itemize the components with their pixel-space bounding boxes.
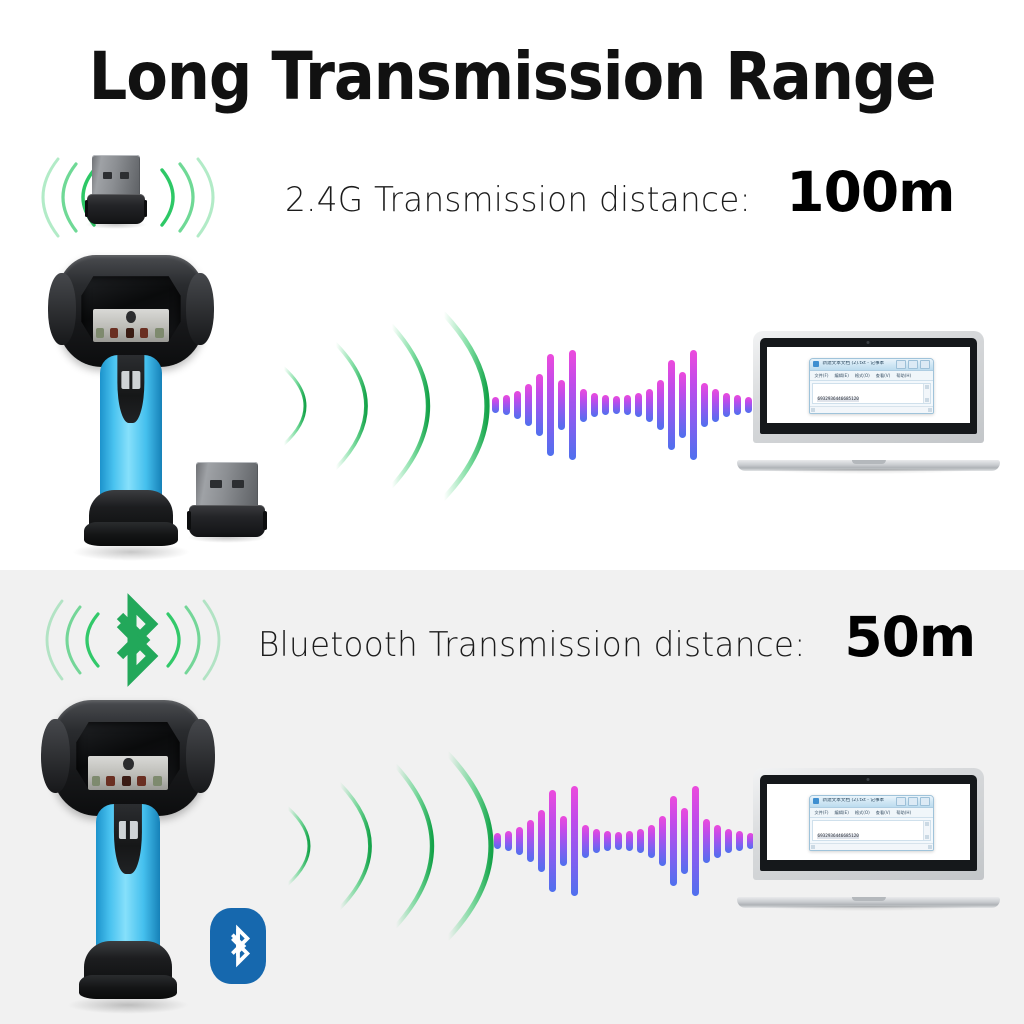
waveform-bar bbox=[525, 384, 532, 426]
scanner-handle bbox=[96, 804, 160, 958]
waveform-bar bbox=[714, 825, 721, 858]
menu-item-format[interactable]: 格式(O) bbox=[855, 371, 870, 380]
scanner-led bbox=[126, 328, 134, 338]
scroll-right-icon[interactable] bbox=[928, 408, 932, 412]
scanner-bumper-left bbox=[41, 719, 70, 793]
waveform-bar bbox=[593, 829, 600, 853]
menu-item-view[interactable]: 查看(V) bbox=[876, 371, 891, 380]
maximize-icon[interactable] bbox=[908, 360, 918, 369]
menu-item-file[interactable]: 文件(F) bbox=[814, 808, 828, 817]
scanner-bumper-left bbox=[48, 273, 76, 345]
waveform-bar bbox=[602, 395, 609, 415]
menu-item-edit[interactable]: 编辑(E) bbox=[835, 371, 849, 380]
usb-connector bbox=[196, 462, 258, 508]
scanner-trigger-slot bbox=[118, 821, 137, 839]
scan-module bbox=[88, 756, 167, 791]
scanner-handle bbox=[100, 355, 162, 507]
waveform-bar bbox=[657, 380, 664, 431]
waveform-bar bbox=[681, 808, 688, 874]
minimize-icon[interactable] bbox=[896, 360, 906, 369]
scanner-trigger-slot bbox=[122, 371, 141, 389]
horizontal-scrollbar[interactable] bbox=[810, 843, 932, 850]
waveform-bar bbox=[591, 393, 598, 417]
notepad-app-icon bbox=[813, 361, 819, 367]
laptop-shadow bbox=[758, 906, 979, 911]
waveform-bar bbox=[560, 816, 567, 867]
waveform-bar bbox=[580, 389, 587, 422]
scroll-down-icon[interactable] bbox=[925, 398, 929, 402]
waveform-bar bbox=[571, 786, 578, 896]
waveform-bar bbox=[723, 393, 730, 417]
waveform-bar bbox=[494, 833, 501, 848]
scan-module bbox=[93, 309, 169, 343]
close-icon[interactable] bbox=[920, 360, 930, 369]
audio-waveform-bluetooth bbox=[494, 786, 754, 896]
horizontal-scrollbar[interactable] bbox=[810, 406, 932, 413]
notepad-window-24g[interactable]: 新建文本文档 (2).txt - 记事本 文件(F) 编辑(E) 格式(O) bbox=[809, 358, 933, 415]
vertical-scrollbar[interactable] bbox=[923, 821, 930, 841]
laptop-shadow bbox=[758, 469, 979, 474]
barcode-scanner-24g bbox=[58, 255, 204, 550]
waveform-bar bbox=[648, 825, 655, 858]
laptop-screen: 新建文本文档 (2).txt - 记事本 文件(F) 编辑(E) 格式(O) bbox=[767, 347, 970, 423]
scanner-led bbox=[153, 776, 162, 786]
headline-24g: 2.4G Transmission distance: 100m bbox=[285, 160, 954, 224]
waveform-bar bbox=[604, 831, 611, 851]
notepad-title: 新建文本文档 (2).txt - 记事本 bbox=[822, 798, 892, 804]
maximize-icon[interactable] bbox=[908, 797, 918, 806]
scanner-head bbox=[58, 255, 204, 367]
usb-connector bbox=[92, 155, 140, 197]
waveform-bar bbox=[646, 389, 653, 422]
waveform-bar bbox=[613, 396, 620, 414]
waveform-bar bbox=[626, 831, 633, 851]
scanner-led bbox=[155, 328, 163, 338]
laptop-screen: 新建文本文档 (2).txt - 记事本 文件(F) 编辑(E) 格式(O) bbox=[767, 784, 970, 860]
waveform-bar bbox=[582, 825, 589, 858]
notepad-text-area[interactable]: 6932936446685120 6932936446685121 693293… bbox=[812, 383, 930, 405]
waveform-bar bbox=[668, 360, 675, 450]
scanner-base bbox=[89, 490, 173, 546]
close-icon[interactable] bbox=[920, 797, 930, 806]
waveform-bar bbox=[701, 383, 708, 427]
waveform-bar bbox=[516, 827, 523, 856]
notepad-text-area[interactable]: 6932936446685120 6932936446685121 693293… bbox=[812, 820, 930, 842]
scanner-lens bbox=[123, 758, 133, 771]
waveform-bar bbox=[505, 831, 512, 851]
signal-arc-fan-bluetooth bbox=[272, 756, 487, 936]
page-title: Long Transmission Range bbox=[41, 38, 983, 115]
waveform-bar bbox=[712, 389, 719, 422]
scanned-code-list: 6932936446685120 6932936446685121 693293… bbox=[813, 384, 929, 405]
scanner-led bbox=[137, 776, 146, 786]
waveform-bar bbox=[558, 380, 565, 431]
notepad-app-icon bbox=[813, 798, 819, 804]
scroll-up-icon[interactable] bbox=[925, 385, 929, 389]
scanner-led bbox=[110, 328, 118, 338]
scroll-left-icon[interactable] bbox=[811, 845, 815, 849]
vertical-scrollbar[interactable] bbox=[923, 384, 930, 404]
waveform-bar bbox=[536, 374, 543, 436]
usb-dongle-icon-receiver bbox=[196, 462, 258, 536]
webcam-icon bbox=[867, 778, 870, 781]
waveform-bar bbox=[725, 829, 732, 853]
laptop-bezel: 新建文本文档 (2).txt - 记事本 文件(F) 编辑(E) 格式(O) bbox=[760, 775, 977, 871]
barcode-scanner-bluetooth bbox=[52, 700, 204, 1000]
waveform-bar bbox=[514, 391, 521, 420]
scroll-down-icon[interactable] bbox=[925, 835, 929, 839]
scanner-bumper-right bbox=[186, 719, 215, 793]
window-controls[interactable] bbox=[896, 360, 930, 369]
waveform-bar bbox=[547, 354, 554, 455]
scroll-left-icon[interactable] bbox=[811, 408, 815, 412]
scanner-shadow bbox=[72, 543, 190, 561]
waveform-bar bbox=[538, 810, 545, 872]
waveform-bar bbox=[624, 395, 631, 415]
laptop-bezel: 新建文本文档 (2).txt - 记事本 文件(F) 编辑(E) 格式(O) bbox=[760, 338, 977, 434]
menu-item-edit[interactable]: 编辑(E) bbox=[835, 808, 849, 817]
notepad-titlebar: 新建文本文档 (2).txt - 记事本 bbox=[810, 796, 932, 808]
waveform-bar bbox=[690, 350, 697, 460]
menu-item-view[interactable]: 查看(V) bbox=[876, 808, 891, 817]
menu-item-file[interactable]: 文件(F) bbox=[814, 371, 828, 380]
scanner-led bbox=[106, 776, 115, 786]
laptop-lid: 新建文本文档 (2).txt - 记事本 文件(F) 编辑(E) 格式(O) bbox=[753, 331, 984, 443]
signal-arc-fan-24g bbox=[268, 316, 483, 496]
scanner-led bbox=[92, 776, 101, 786]
scroll-up-icon[interactable] bbox=[925, 822, 929, 826]
waveform-bar bbox=[659, 816, 666, 867]
notepad-titlebar: 新建文本文档 (2).txt - 记事本 bbox=[810, 359, 932, 371]
scanner-trigger bbox=[114, 804, 142, 874]
usb-shadow bbox=[85, 220, 146, 230]
waveform-bar bbox=[637, 829, 644, 853]
scanner-bumper-right bbox=[186, 273, 214, 345]
menu-item-format[interactable]: 格式(O) bbox=[855, 808, 870, 817]
minimize-icon[interactable] bbox=[896, 797, 906, 806]
waveform-bar bbox=[703, 819, 710, 863]
scanner-base bbox=[84, 941, 172, 999]
infographic-page: Long Transmission Range 2.4G Transmissio… bbox=[0, 0, 1024, 1024]
headline-24g-value: 100m bbox=[786, 160, 954, 224]
laptop-lid: 新建文本文档 (2).txt - 记事本 文件(F) 编辑(E) 格式(O) bbox=[753, 768, 984, 880]
headline-bluetooth-lead: Bluetooth Transmission distance: bbox=[258, 625, 806, 665]
laptop-bluetooth: 新建文本文档 (2).txt - 记事本 文件(F) 编辑(E) 格式(O) bbox=[737, 768, 1000, 908]
headline-bluetooth-value: 50m bbox=[844, 605, 975, 669]
scanner-led bbox=[96, 328, 104, 338]
webcam-icon bbox=[867, 341, 870, 344]
headline-bluetooth: Bluetooth Transmission distance: 50m bbox=[258, 605, 975, 669]
menu-item-help[interactable]: 帮助(H) bbox=[896, 808, 911, 817]
bluetooth-badge-icon bbox=[210, 908, 266, 984]
waveform-bar bbox=[679, 372, 686, 438]
scanner-led bbox=[122, 776, 131, 786]
headline-24g-lead: 2.4G Transmission distance: bbox=[285, 180, 751, 220]
waveform-bar bbox=[635, 393, 642, 417]
scanner-lens bbox=[126, 311, 136, 323]
scanned-code-list: 6932936446685120 6932936446685121 693293… bbox=[813, 821, 929, 842]
waveform-bar bbox=[569, 350, 576, 460]
scanner-led bbox=[140, 328, 148, 338]
scanned-code-line: 6932936446685120 bbox=[817, 834, 858, 839]
usb-shadow bbox=[187, 532, 266, 542]
notepad-window-bluetooth[interactable]: 新建文本文档 (2).txt - 记事本 文件(F) 编辑(E) 格式(O) bbox=[809, 795, 933, 852]
scanner-head bbox=[52, 700, 204, 816]
scanner-shadow bbox=[67, 996, 189, 1014]
waveform-bar bbox=[615, 832, 622, 850]
menu-item-help[interactable]: 帮助(H) bbox=[896, 371, 911, 380]
bluetooth-icon-large bbox=[100, 592, 164, 688]
audio-waveform-24g bbox=[492, 350, 752, 460]
notepad-menubar[interactable]: 文件(F) 编辑(E) 格式(O) 查看(V) 帮助(H) bbox=[810, 808, 932, 818]
waveform-bar bbox=[503, 395, 510, 415]
scanned-code-line: 6932936446685120 bbox=[817, 397, 858, 402]
scroll-right-icon[interactable] bbox=[928, 845, 932, 849]
waveform-bar bbox=[692, 786, 699, 896]
waveform-bar bbox=[549, 790, 556, 891]
notepad-menubar[interactable]: 文件(F) 编辑(E) 格式(O) 查看(V) 帮助(H) bbox=[810, 371, 932, 381]
laptop-24g: 新建文本文档 (2).txt - 记事本 文件(F) 编辑(E) 格式(O) bbox=[737, 331, 1000, 471]
notepad-title: 新建文本文档 (2).txt - 记事本 bbox=[822, 361, 892, 367]
window-controls[interactable] bbox=[896, 797, 930, 806]
scanner-trigger bbox=[117, 355, 144, 423]
usb-dongle-icon-top bbox=[92, 155, 140, 223]
waveform-bar bbox=[670, 796, 677, 886]
waveform-bar bbox=[492, 397, 499, 412]
waveform-bar bbox=[527, 820, 534, 862]
